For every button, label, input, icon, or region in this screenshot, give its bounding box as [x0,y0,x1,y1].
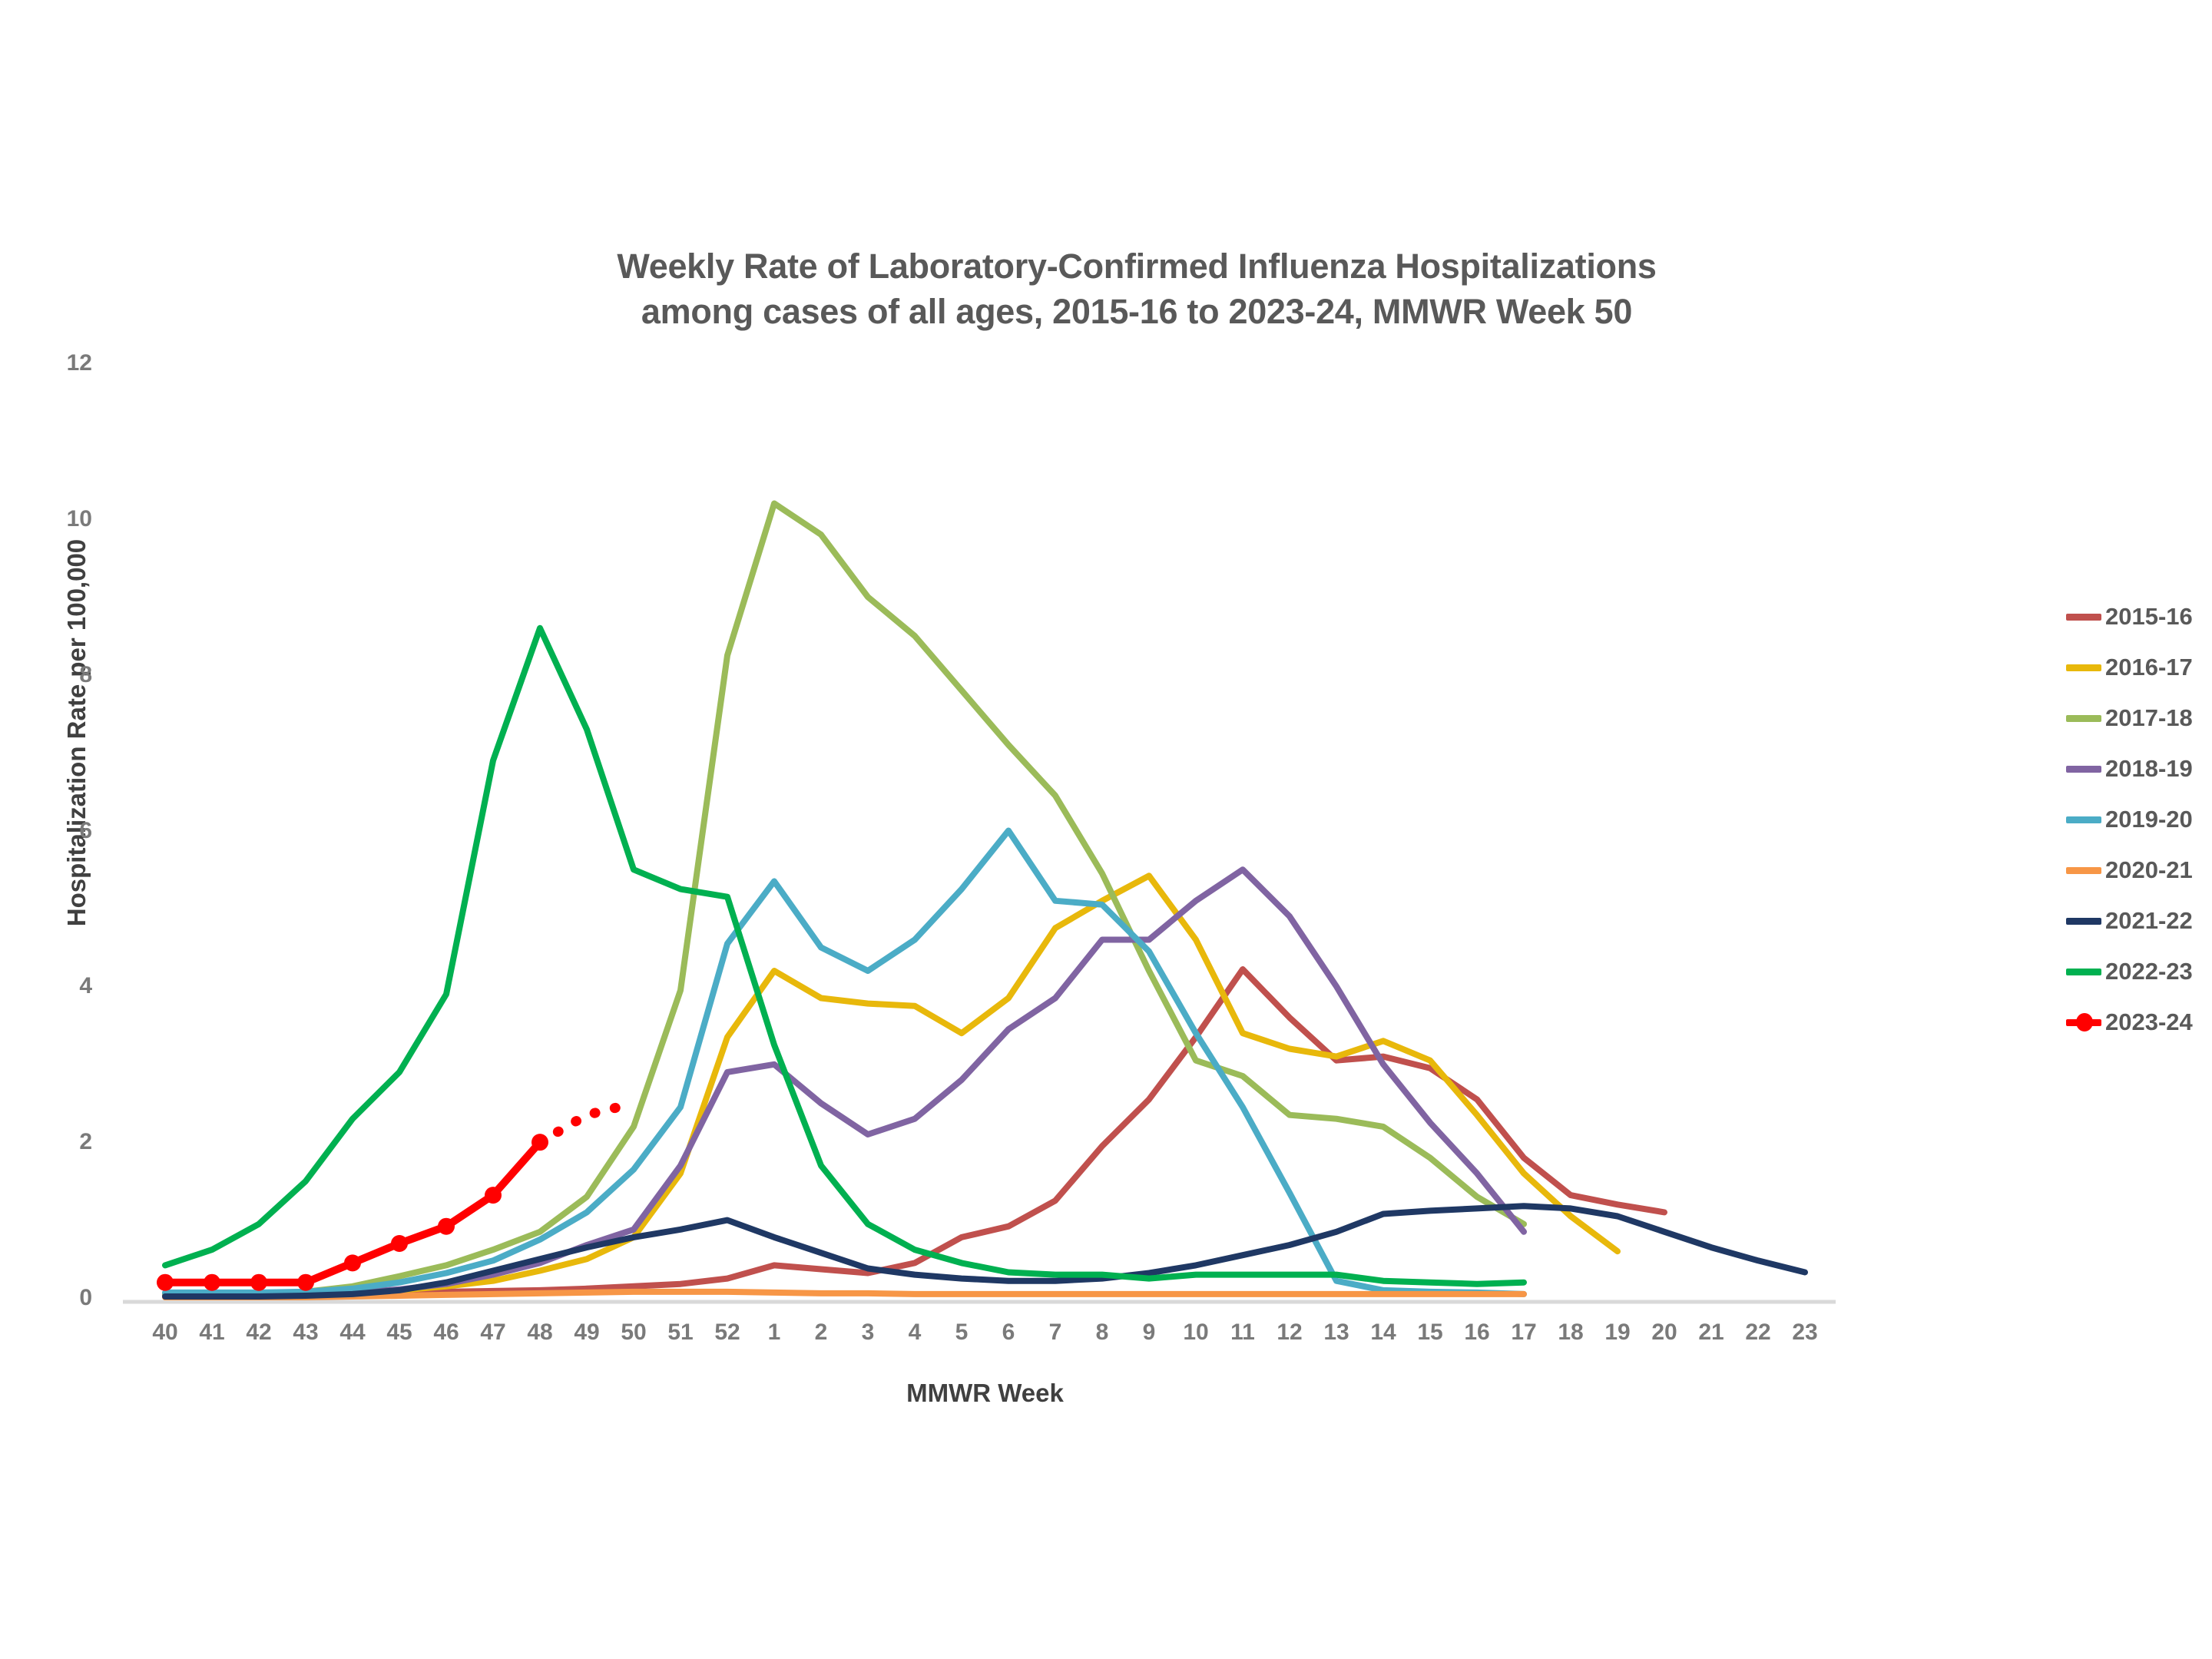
legend-item-2022-23[interactable]: 2022-23 [2066,946,2212,997]
data-point-marker [391,1235,408,1252]
plot-area [0,0,2212,1659]
data-point-marker [485,1187,502,1204]
series-2019-20 [165,831,1524,1294]
series-lines [157,504,1805,1298]
legend-label: 2021-22 [2105,907,2193,935]
legend-label: 2023-24 [2105,1008,2193,1036]
legend-swatch-icon [2066,715,2101,722]
legend-label: 2018-19 [2105,755,2193,783]
legend-label: 2016-17 [2105,654,2193,681]
legend-label: 2020-21 [2105,856,2193,884]
legend-swatch-icon [2066,867,2101,874]
data-point-marker [438,1218,455,1235]
data-point-marker [157,1274,174,1291]
data-point-marker [204,1274,220,1291]
legend-swatch-icon [2066,1019,2101,1026]
series-2018-19 [165,869,1524,1296]
legend-item-2023-24[interactable]: 2023-24 [2066,997,2212,1048]
data-point-marker [344,1254,361,1271]
legend: 2015-162016-172017-182018-192019-202020-… [2066,591,2212,1048]
legend-item-2021-22[interactable]: 2021-22 [2066,896,2212,946]
legend-swatch-icon [2066,969,2101,975]
legend-label: 2017-18 [2105,704,2193,732]
legend-item-2016-17[interactable]: 2016-17 [2066,642,2212,693]
series-2017-18 [165,504,1524,1295]
line-2017-18 [165,504,1524,1295]
line-2019-20 [165,831,1524,1294]
legend-swatch-icon [2066,918,2101,925]
legend-item-2018-19[interactable]: 2018-19 [2066,743,2212,794]
legend-swatch-icon [2066,816,2101,823]
legend-swatch-icon [2066,664,2101,671]
legend-item-2015-16[interactable]: 2015-16 [2066,591,2212,642]
line-2018-19 [165,869,1524,1296]
line-preliminary-2023-24 [540,1104,634,1143]
data-point-marker [297,1274,314,1291]
legend-swatch-icon [2066,614,2101,621]
data-point-marker [531,1134,548,1151]
legend-label: 2019-20 [2105,806,2193,833]
legend-label: 2015-16 [2105,603,2193,631]
legend-label: 2022-23 [2105,958,2193,985]
legend-item-2019-20[interactable]: 2019-20 [2066,794,2212,845]
data-point-marker [250,1274,267,1291]
legend-swatch-icon [2066,766,2101,773]
legend-item-2017-18[interactable]: 2017-18 [2066,693,2212,743]
chart-container: Weekly Rate of Laboratory-Confirmed Infl… [0,0,2212,1659]
legend-item-2020-21[interactable]: 2020-21 [2066,845,2212,896]
